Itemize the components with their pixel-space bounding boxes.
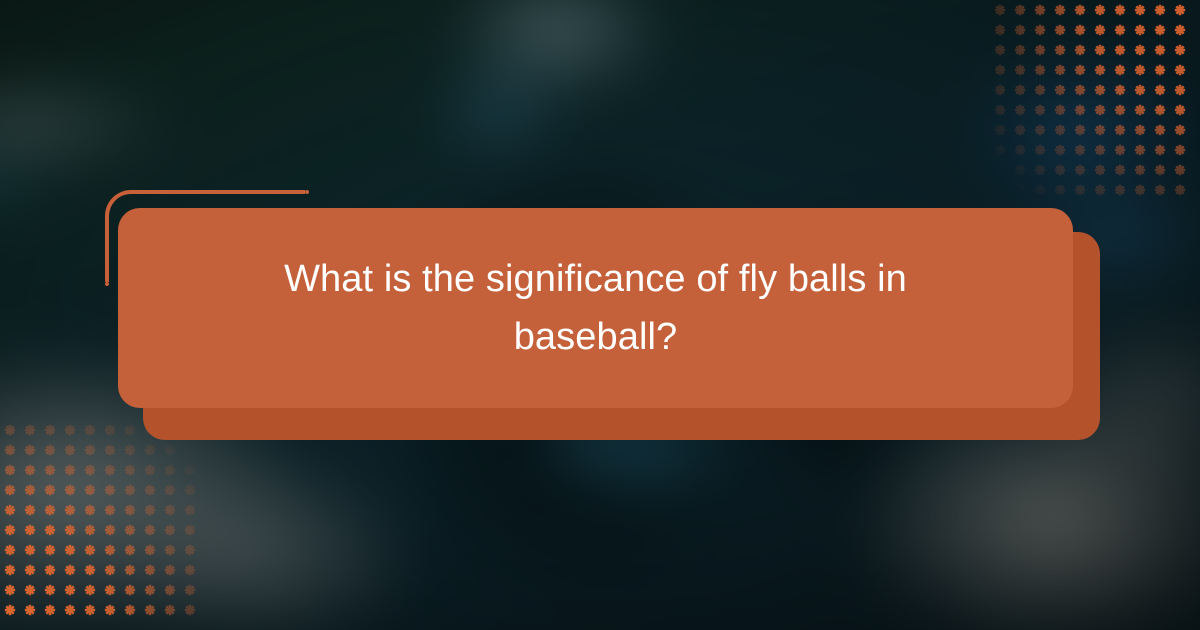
question-text: What is the significance of fly balls in… (266, 250, 926, 366)
banner-canvas: What is the significance of fly balls in… (0, 0, 1200, 630)
question-card: What is the significance of fly balls in… (118, 208, 1073, 408)
